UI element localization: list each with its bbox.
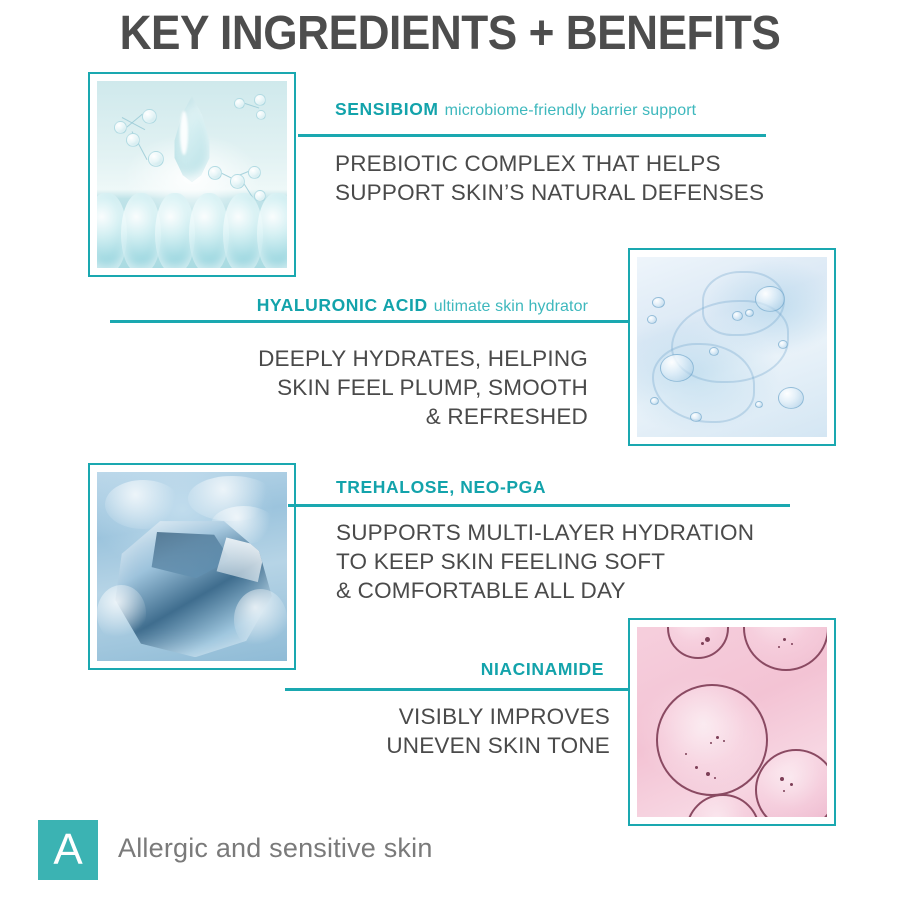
ingredient-benefit-1: PREBIOTIC COMPLEX THAT HELPS SUPPORT SKI… xyxy=(335,150,855,208)
ingredient-name-4: NIACINAMIDE xyxy=(481,659,604,679)
pink-bubbles-photo xyxy=(637,627,827,817)
allergy-badge-icon: A xyxy=(38,820,98,880)
droplet-highlight xyxy=(180,111,188,155)
gel-bubble-small-1 xyxy=(652,297,665,308)
ingredient-image-hyaluronic-acid xyxy=(628,248,836,446)
ingredient-name-row-1: SENSIBIOMmicrobiome-friendly barrier sup… xyxy=(335,100,855,120)
pink-bubble-top-left xyxy=(667,627,729,659)
pink-bubble-bottom-center xyxy=(686,794,760,817)
ingredient-benefit-3: SUPPORTS MULTI-LAYER HYDRATION TO KEEP S… xyxy=(336,519,856,605)
ingredient-block-4: NIACINAMIDE xyxy=(285,660,610,680)
gel-bubbles-photo xyxy=(637,257,827,437)
gel-bubble-large-2 xyxy=(660,354,694,382)
gel-bubble-small-9 xyxy=(650,397,659,405)
connector-line-1 xyxy=(298,134,766,137)
gel-bubble-small-7 xyxy=(755,401,763,408)
gel-bubble-small-8 xyxy=(690,412,702,422)
molecule-cluster-top-right xyxy=(230,92,276,128)
ingredient-image-sensibiom xyxy=(88,72,296,277)
footer-label: Allergic and sensitive skin xyxy=(118,833,433,864)
ingredient-name-3: TREHALOSE, NEO-PGA xyxy=(336,477,546,497)
ingredient-block-1: SENSIBIOMmicrobiome-friendly barrier sup… xyxy=(335,100,855,120)
ingredient-image-niacinamide xyxy=(628,618,836,826)
ingredient-descriptor-2: ultimate skin hydrator xyxy=(428,298,588,315)
ingredient-descriptor-4 xyxy=(604,662,610,679)
ingredient-block-2: HYALURONIC ACIDultimate skin hydrator xyxy=(110,296,588,316)
gel-bubble-small-2 xyxy=(647,315,657,324)
page-title: KEY INGREDIENTS + BENEFITS xyxy=(36,6,864,61)
ingredient-name-row-4: NIACINAMIDE xyxy=(285,660,610,680)
ingredient-descriptor-1: microbiome-friendly barrier support xyxy=(439,102,697,119)
ingredient-block-3: TREHALOSE, NEO-PGA xyxy=(336,478,856,498)
molecule-cluster-left xyxy=(108,107,170,173)
ingredient-image-trehalose xyxy=(88,463,296,670)
gel-bubble-large-3 xyxy=(778,387,804,409)
connector-line-2 xyxy=(110,320,628,323)
ingredient-name-2: HYALURONIC ACID xyxy=(257,295,428,315)
connector-line-4 xyxy=(285,688,630,691)
gel-bubble-small-3 xyxy=(732,311,743,321)
ingredient-descriptor-3 xyxy=(546,480,552,497)
ingredient-benefit-4: VISIBLY IMPROVES UNEVEN SKIN TONE xyxy=(285,703,610,761)
water-texture-5 xyxy=(234,589,287,649)
polyhedron-water-photo xyxy=(97,472,287,661)
infographic-page: KEY INGREDIENTS + BENEFITS xyxy=(0,0,900,900)
pink-bubble-top-right xyxy=(743,627,827,671)
ingredient-benefit-2: DEEPLY HYDRATES, HELPING SKIN FEEL PLUMP… xyxy=(88,345,588,431)
ingredient-name-1: SENSIBIOM xyxy=(335,99,439,119)
pink-bubble-large xyxy=(656,684,768,796)
ingredient-name-row-2: HYALURONIC ACIDultimate skin hydrator xyxy=(110,296,588,316)
droplet-molecules-photo xyxy=(97,81,287,268)
connector-line-3 xyxy=(288,504,790,507)
pink-bubble-bottom-right xyxy=(755,749,827,817)
gel-bubble-large-1 xyxy=(755,286,785,312)
ingredient-name-row-3: TREHALOSE, NEO-PGA xyxy=(336,478,856,498)
bubble-row xyxy=(97,193,287,268)
water-texture-4 xyxy=(97,585,146,642)
gel-bubble-small-6 xyxy=(778,340,788,349)
